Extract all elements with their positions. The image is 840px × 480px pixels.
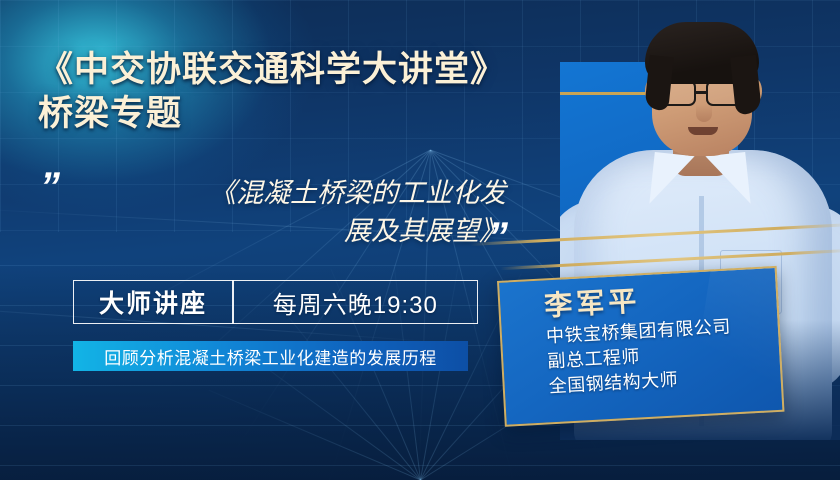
hair <box>645 22 759 84</box>
lecture-time-label: 每周六晚19:30 <box>234 285 477 320</box>
quote-close-icon: ” <box>488 224 504 250</box>
lecture-subtitle: 《混凝土桥梁的工业化发 展及其展望》 <box>86 174 506 250</box>
lecture-type-label: 大师讲座 <box>74 284 232 320</box>
subtitle-line-2: 展及其展望》 <box>86 212 506 250</box>
mouth <box>688 127 718 135</box>
description-text: 回顾分析混凝土桥梁工业化建造的发展历程 <box>104 344 437 369</box>
collar-right <box>705 152 750 208</box>
subtitle-line-1: 《混凝土桥梁的工业化发 <box>86 174 506 212</box>
lecture-schedule-box: 大师讲座 每周六晚19:30 <box>73 280 478 324</box>
nose <box>696 104 712 122</box>
description-bar: 回顾分析混凝土桥梁工业化建造的发展历程 <box>73 341 468 371</box>
quote-open-icon: ” <box>40 174 56 200</box>
title-line-1: 《中交协联交通科学大讲堂》 <box>38 50 506 89</box>
lecture-promo-banner: 《中交协联交通科学大讲堂》 桥梁专题 ” 《混凝土桥梁的工业化发 展及其展望》 … <box>0 0 840 480</box>
collar-left <box>649 152 694 208</box>
speaker-info-panel: 李军平 中铁宝桥集团有限公司 副总工程师 全国钢结构大师 <box>497 266 784 427</box>
title-line-2: 桥梁专题 <box>38 92 558 136</box>
page-title: 《中交协联交通科学大讲堂》 桥梁专题 <box>38 48 558 136</box>
